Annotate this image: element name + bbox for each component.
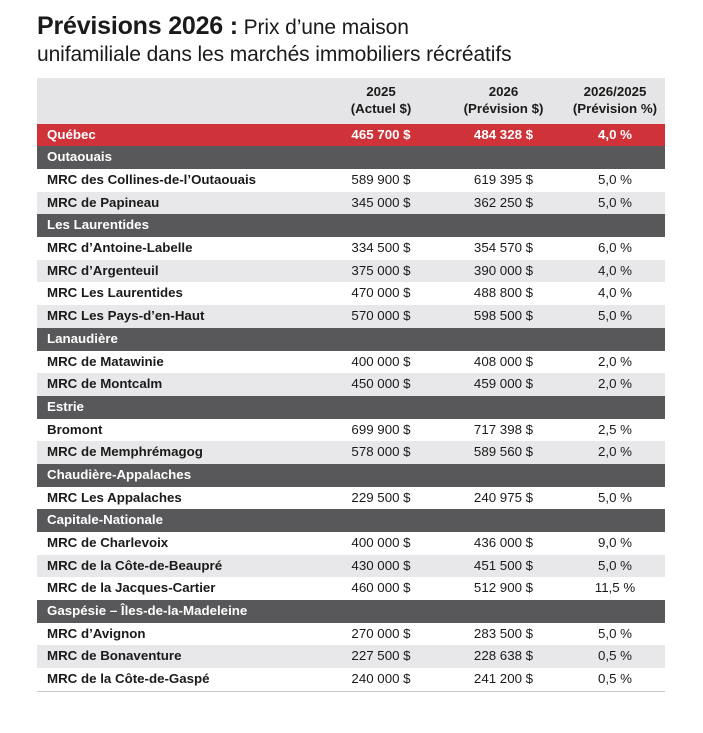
table-body: Québec465 700 $484 328 $4,0 %OutaouaisMR…: [37, 124, 665, 691]
cell-2026: 436 000 $: [442, 532, 565, 555]
table-header: 2025 (Actuel $) 2026 (Prévision $) 2026/…: [37, 78, 665, 124]
row-label: MRC d’Avignon: [37, 623, 320, 646]
cell-2026: 488 800 $: [442, 282, 565, 305]
page-title-line-1: Prévisions 2026 : Prix d’une maison: [37, 11, 665, 42]
section-label: Capitale-Nationale: [37, 509, 665, 532]
row-label: MRC de Bonaventure: [37, 645, 320, 668]
cell-2025: 400 000 $: [320, 351, 442, 374]
row-label: MRC d’Argenteuil: [37, 260, 320, 283]
cell-2026: 589 560 $: [442, 441, 565, 464]
table-row: MRC de Matawinie400 000 $408 000 $2,0 %: [37, 351, 665, 374]
cell-2026: 717 398 $: [442, 419, 565, 442]
forecast-table-page: Prévisions 2026 : Prix d’une maison unif…: [0, 0, 703, 733]
table-row-highlight: Québec465 700 $484 328 $4,0 %: [37, 124, 665, 147]
table-row: Bromont699 900 $717 398 $2,5 %: [37, 419, 665, 442]
row-label: MRC Les Laurentides: [37, 282, 320, 305]
row-label: MRC des Collines-de-l’Outaouais: [37, 169, 320, 192]
cell-2026: 451 500 $: [442, 555, 565, 578]
cell-variation: 5,0 %: [565, 623, 665, 646]
cell-variation: 5,0 %: [565, 192, 665, 215]
row-label: Bromont: [37, 419, 320, 442]
cell-2025: 430 000 $: [320, 555, 442, 578]
row-label: MRC de Charlevoix: [37, 532, 320, 555]
cell-2025: 460 000 $: [320, 577, 442, 600]
column-header-variation-line1: 2026/2025: [571, 83, 659, 100]
row-label: MRC de la Jacques-Cartier: [37, 577, 320, 600]
section-label: Chaudière-Appalaches: [37, 464, 665, 487]
cell-2025: 375 000 $: [320, 260, 442, 283]
cell-2026: 484 328 $: [442, 124, 565, 147]
cell-2026: 619 395 $: [442, 169, 565, 192]
row-label: MRC de la Côte-de-Beaupré: [37, 555, 320, 578]
column-header-2026-line2: (Prévision $): [448, 100, 559, 117]
table-row: MRC Les Appalaches229 500 $240 975 $5,0 …: [37, 487, 665, 510]
page-title-rest: Prix d’une maison: [238, 16, 409, 39]
row-label: MRC de Papineau: [37, 192, 320, 215]
page-title-line-2: unifamiliale dans les marchés immobilier…: [37, 42, 665, 68]
cell-variation: 5,0 %: [565, 555, 665, 578]
section-label: Estrie: [37, 396, 665, 419]
cell-2025: 699 900 $: [320, 419, 442, 442]
table-section-header-row: Chaudière-Appalaches: [37, 464, 665, 487]
cell-2026: 512 900 $: [442, 577, 565, 600]
table-row: MRC Les Pays-d’en-Haut570 000 $598 500 $…: [37, 305, 665, 328]
cell-2026: 598 500 $: [442, 305, 565, 328]
section-label: Les Laurentides: [37, 214, 665, 237]
cell-2026: 228 638 $: [442, 645, 565, 668]
cell-variation: 5,0 %: [565, 305, 665, 328]
cell-variation: 5,0 %: [565, 487, 665, 510]
cell-2026: 354 570 $: [442, 237, 565, 260]
cell-2025: 270 000 $: [320, 623, 442, 646]
cell-variation: 4,0 %: [565, 282, 665, 305]
row-label: MRC de Montcalm: [37, 373, 320, 396]
column-header-2026-line1: 2026: [448, 83, 559, 100]
table-row: MRC des Collines-de-l’Outaouais589 900 $…: [37, 169, 665, 192]
section-label: Outaouais: [37, 146, 665, 169]
table-row: MRC d’Avignon270 000 $283 500 $5,0 %: [37, 623, 665, 646]
cell-2026: 390 000 $: [442, 260, 565, 283]
row-label: Québec: [37, 124, 320, 147]
cell-variation: 4,0 %: [565, 260, 665, 283]
table-section-header-row: Outaouais: [37, 146, 665, 169]
row-label: MRC Les Pays-d’en-Haut: [37, 305, 320, 328]
table-row: MRC de la Côte-de-Gaspé240 000 $241 200 …: [37, 668, 665, 691]
table-row: MRC d’Antoine-Labelle334 500 $354 570 $6…: [37, 237, 665, 260]
table-row: MRC de Charlevoix400 000 $436 000 $9,0 %: [37, 532, 665, 555]
column-header-variation-line2: (Prévision %): [571, 100, 659, 117]
table-row: MRC de Bonaventure227 500 $228 638 $0,5 …: [37, 645, 665, 668]
cell-2025: 345 000 $: [320, 192, 442, 215]
table-row: MRC de la Jacques-Cartier460 000 $512 90…: [37, 577, 665, 600]
table-section-header-row: Estrie: [37, 396, 665, 419]
table-bottom-rule: [37, 691, 665, 692]
cell-variation: 2,0 %: [565, 351, 665, 374]
cell-2025: 334 500 $: [320, 237, 442, 260]
section-label: Lanaudière: [37, 328, 665, 351]
table-row: MRC de la Côte-de-Beaupré430 000 $451 50…: [37, 555, 665, 578]
column-header-2025: 2025 (Actuel $): [320, 78, 442, 124]
cell-variation: 0,5 %: [565, 645, 665, 668]
cell-2025: 578 000 $: [320, 441, 442, 464]
section-label: Gaspésie – Îles-de-la-Madeleine: [37, 600, 665, 623]
column-header-2026: 2026 (Prévision $): [442, 78, 565, 124]
column-header-2025-line1: 2025: [326, 83, 436, 100]
column-header-2025-line2: (Actuel $): [326, 100, 436, 117]
cell-2025: 570 000 $: [320, 305, 442, 328]
table-row: MRC de Montcalm450 000 $459 000 $2,0 %: [37, 373, 665, 396]
cell-2025: 229 500 $: [320, 487, 442, 510]
page-title-emphasis: Prévisions 2026 :: [37, 12, 238, 40]
table-row: MRC de Memphrémagog578 000 $589 560 $2,0…: [37, 441, 665, 464]
cell-2026: 240 975 $: [442, 487, 565, 510]
row-label: MRC de la Côte-de-Gaspé: [37, 668, 320, 691]
cell-variation: 11,5 %: [565, 577, 665, 600]
table-row: MRC Les Laurentides470 000 $488 800 $4,0…: [37, 282, 665, 305]
cell-2025: 227 500 $: [320, 645, 442, 668]
cell-variation: 0,5 %: [565, 668, 665, 691]
cell-variation: 5,0 %: [565, 169, 665, 192]
page-title: Prévisions 2026 : Prix d’une maison unif…: [37, 11, 665, 67]
table-section-header-row: Capitale-Nationale: [37, 509, 665, 532]
cell-2025: 240 000 $: [320, 668, 442, 691]
row-label: MRC Les Appalaches: [37, 487, 320, 510]
cell-2026: 241 200 $: [442, 668, 565, 691]
table-section-header-row: Gaspésie – Îles-de-la-Madeleine: [37, 600, 665, 623]
cell-variation: 6,0 %: [565, 237, 665, 260]
cell-2025: 470 000 $: [320, 282, 442, 305]
column-header-name: [37, 78, 320, 124]
cell-variation: 2,0 %: [565, 373, 665, 396]
row-label: MRC de Memphrémagog: [37, 441, 320, 464]
cell-2025: 450 000 $: [320, 373, 442, 396]
cell-2025: 465 700 $: [320, 124, 442, 147]
row-label: MRC de Matawinie: [37, 351, 320, 374]
cell-2026: 362 250 $: [442, 192, 565, 215]
table-row: MRC de Papineau345 000 $362 250 $5,0 %: [37, 192, 665, 215]
cell-2025: 400 000 $: [320, 532, 442, 555]
cell-variation: 2,5 %: [565, 419, 665, 442]
table-row: MRC d’Argenteuil375 000 $390 000 $4,0 %: [37, 260, 665, 283]
table-section-header-row: Lanaudière: [37, 328, 665, 351]
table-header-row: 2025 (Actuel $) 2026 (Prévision $) 2026/…: [37, 78, 665, 124]
cell-2026: 283 500 $: [442, 623, 565, 646]
cell-variation: 4,0 %: [565, 124, 665, 147]
cell-2026: 459 000 $: [442, 373, 565, 396]
cell-2026: 408 000 $: [442, 351, 565, 374]
forecast-table: 2025 (Actuel $) 2026 (Prévision $) 2026/…: [37, 78, 665, 691]
column-header-variation: 2026/2025 (Prévision %): [565, 78, 665, 124]
cell-variation: 9,0 %: [565, 532, 665, 555]
row-label: MRC d’Antoine-Labelle: [37, 237, 320, 260]
cell-variation: 2,0 %: [565, 441, 665, 464]
table-section-header-row: Les Laurentides: [37, 214, 665, 237]
cell-2025: 589 900 $: [320, 169, 442, 192]
